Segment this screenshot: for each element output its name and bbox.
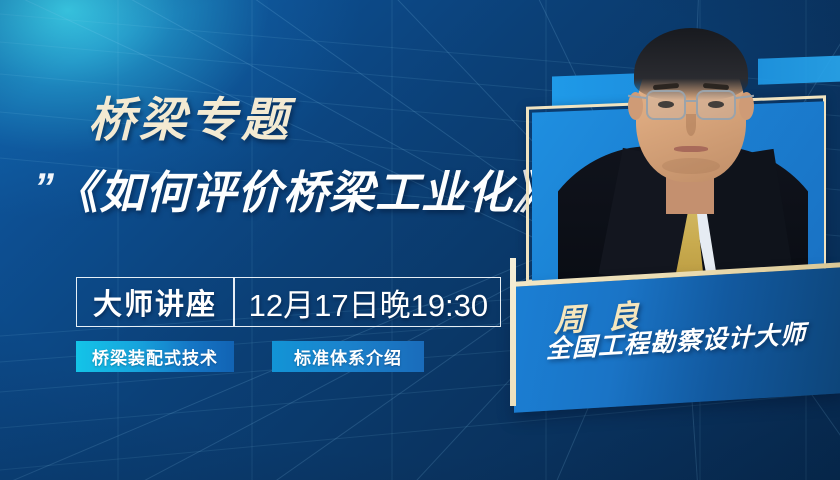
quote-open-mark: ”	[34, 168, 51, 208]
topic-tag-1: 桥梁装配式技术	[76, 341, 234, 372]
speaker-photo	[558, 6, 808, 282]
photo-chin-shadow	[662, 158, 720, 174]
page-title: 桥梁专题	[88, 96, 292, 143]
topic-tag-list: 桥梁装配式技术 标准体系介绍	[76, 341, 424, 372]
lecture-time-label: 12月17日晚19:30	[235, 278, 501, 326]
photo-hair	[634, 28, 748, 100]
photo-nose	[686, 114, 696, 136]
subtitle: 《如何评价桥梁工业化》	[53, 170, 559, 215]
glasses-bridge-icon	[686, 100, 696, 102]
speaker-portrait-assembly: 周 良 全国工程勘察设计大师	[500, 0, 840, 480]
subtitle-row: ” 《如何评价桥梁工业化》 ”	[34, 170, 577, 215]
lecture-info-bar: 大师讲座 12月17日晚19:30	[76, 277, 501, 327]
photo-mouth	[674, 146, 708, 152]
glasses-lens-right-icon	[696, 90, 736, 120]
glasses-lens-left-icon	[646, 90, 686, 120]
topic-tag-2: 标准体系介绍	[272, 341, 424, 372]
lecture-kind-label: 大师讲座	[77, 278, 233, 326]
speaker-name-panel-side-edge	[510, 258, 516, 406]
webinar-poster: 桥梁专题 ” 《如何评价桥梁工业化》 ” 大师讲座 12月17日晚19:30 桥…	[0, 0, 840, 480]
